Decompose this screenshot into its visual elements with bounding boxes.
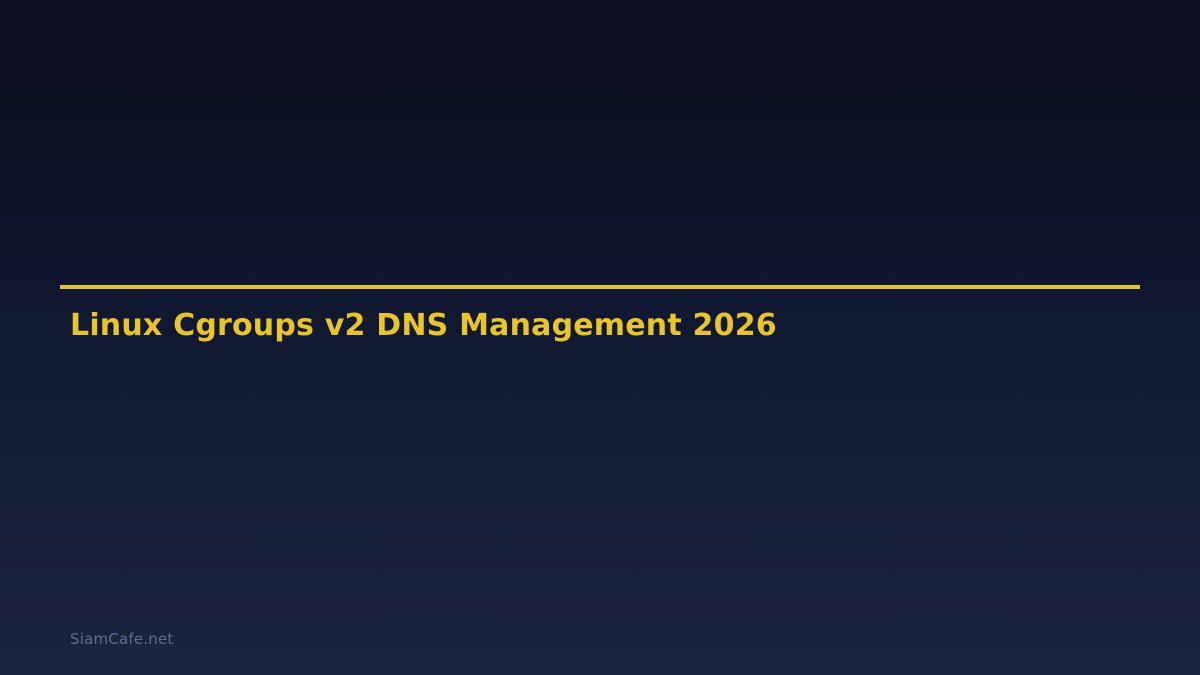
- footer-watermark: SiamCafe.net: [70, 630, 173, 649]
- accent-rule-divider: [60, 285, 1140, 289]
- title-slide: Linux Cgroups v2 DNS Management 2026 Sia…: [0, 0, 1200, 675]
- title-block: Linux Cgroups v2 DNS Management 2026: [60, 285, 1140, 289]
- page-title: Linux Cgroups v2 DNS Management 2026: [70, 307, 777, 345]
